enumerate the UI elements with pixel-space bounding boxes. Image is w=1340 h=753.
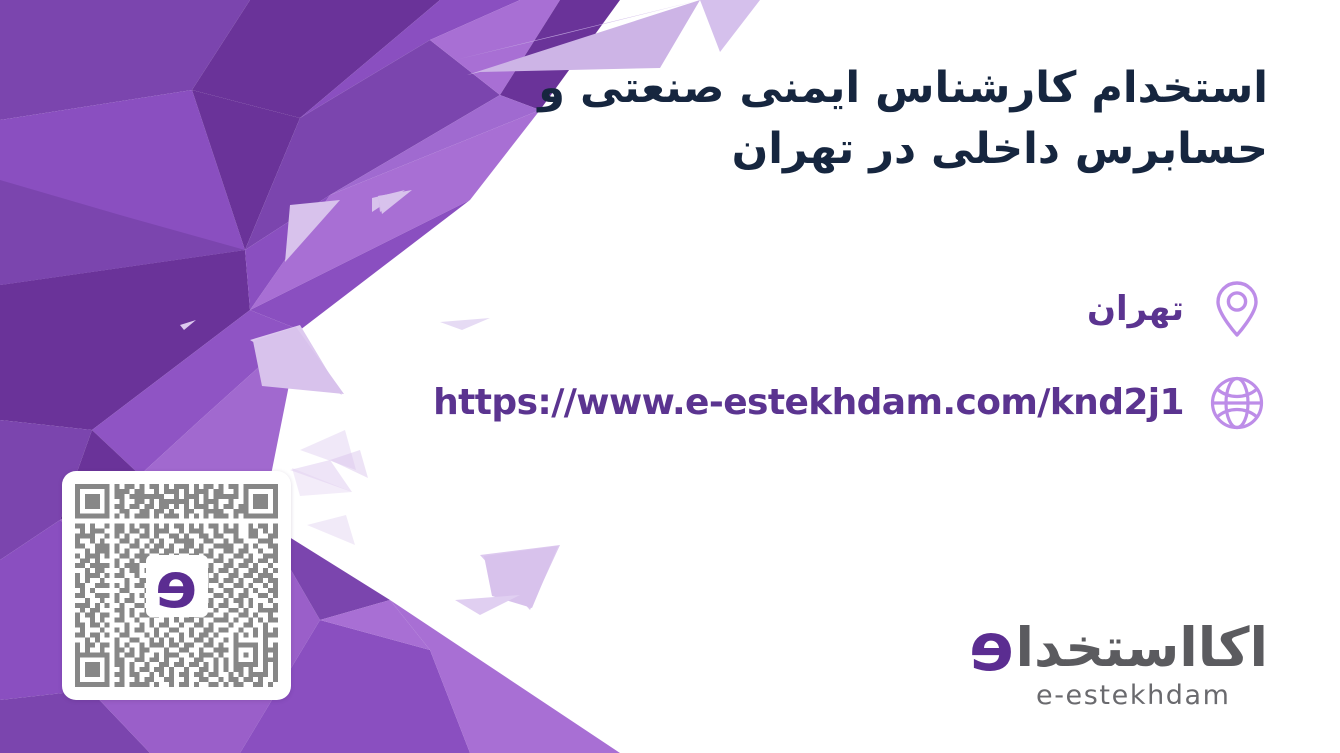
website-row[interactable]: https://www.e-estekhdam.com/knd2j1 [433, 372, 1268, 434]
page-title: استخدام کارشناس ایمنی صنعتی و حسابرس داخ… [368, 58, 1268, 180]
job-share-card: استخدام کارشناس ایمنی صنعتی و حسابرس داخ… [0, 0, 1340, 753]
brand-logo: e اکااستخدا e-estekhdam [948, 618, 1268, 710]
location-text: تهران [1087, 292, 1184, 326]
brand-e-mark: e [969, 620, 1014, 676]
globe-icon [1206, 372, 1268, 434]
qr-center-logo: e [146, 555, 208, 617]
map-pin-icon [1206, 278, 1268, 340]
location-row: تهران [1087, 278, 1268, 340]
brand-name-fa: اکااستخدا [1016, 620, 1268, 676]
qr-code[interactable]: e [62, 471, 291, 700]
brand-logo-fa: e اکااستخدا [948, 618, 1268, 676]
qr-center-logo-text: e [155, 559, 197, 613]
website-url-text[interactable]: https://www.e-estekhdam.com/knd2j1 [433, 385, 1184, 421]
